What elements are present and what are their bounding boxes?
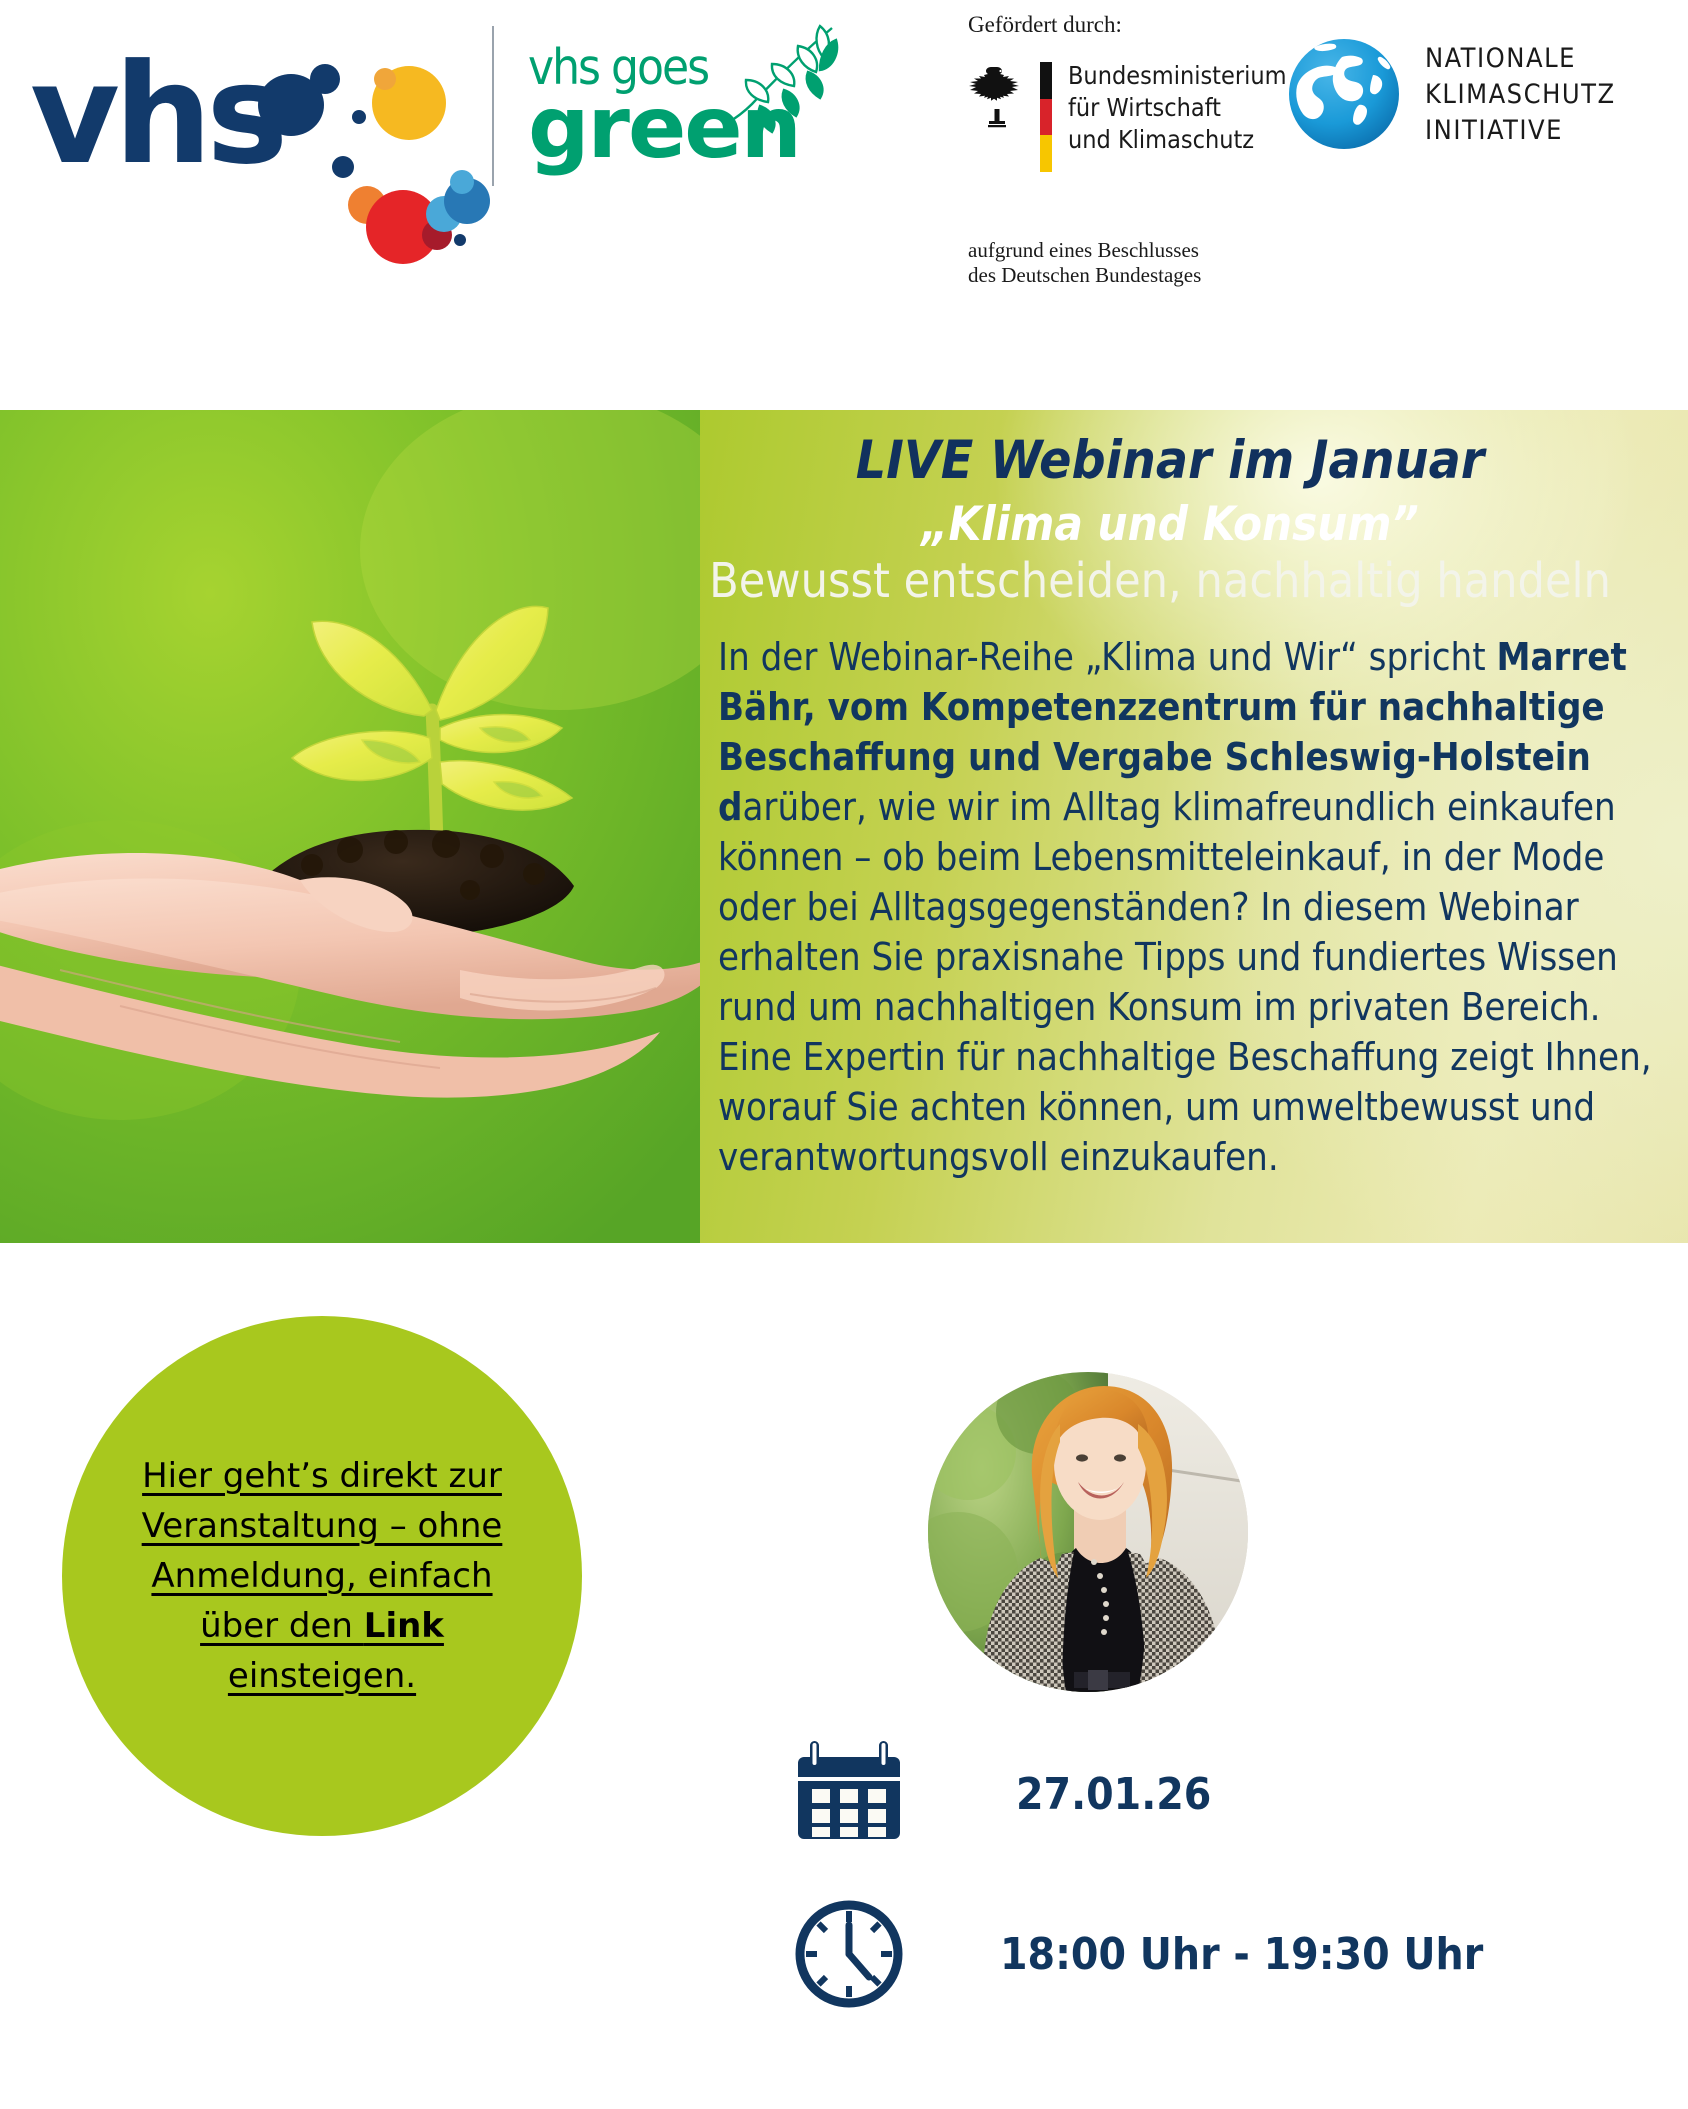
nki-line3: INITIATIVE — [1425, 113, 1616, 149]
globe-icon — [1285, 35, 1403, 153]
event-date-label: 27.01.26 — [1016, 1769, 1211, 1820]
cta-link-text[interactable]: Hier geht’s direkt zur Veranstaltung – o… — [122, 1451, 522, 1701]
event-time-row: 18:00 Uhr - 19:30 Uhr — [790, 1895, 1483, 2013]
speaker-photo — [928, 1372, 1248, 1692]
federal-eagle-icon — [968, 64, 1026, 130]
bmwk-line3: und Klimaschutz — [1068, 124, 1287, 156]
hero-body-text: In der Webinar-Reihe „Klima und Wir“ spr… — [718, 632, 1664, 1182]
hero-text-block: LIVE Webinar im Januar „Klima und Konsum… — [690, 410, 1688, 1243]
bundestag-resolution-note: aufgrund eines Beschlusses des Deutschen… — [968, 238, 1201, 288]
bmwk-line1: Bundesministerium — [1068, 60, 1287, 92]
cta-link-circle[interactable]: Hier geht’s direkt zur Veranstaltung – o… — [62, 1316, 582, 1836]
nki-line2: KLIMASCHUTZ — [1425, 77, 1616, 113]
hands-holding-seedling-image — [0, 410, 700, 1243]
event-date-row: 27.01.26 — [790, 1735, 1211, 1853]
bmwk-line2: für Wirtschaft — [1068, 92, 1287, 124]
hero-banner: LIVE Webinar im Januar „Klima und Konsum… — [0, 410, 1688, 1243]
calendar-icon — [790, 1735, 908, 1853]
resolution-line2: des Deutschen Bundestages — [968, 263, 1201, 288]
nki-line1: NATIONALE — [1425, 41, 1616, 77]
hero-subtitle: „Klima und Konsum” — [690, 496, 1650, 554]
hero-tagline: Bewusst entscheiden, nachhaltig handeln — [630, 552, 1688, 610]
event-time-label: 18:00 Uhr - 19:30 Uhr — [1000, 1929, 1483, 1980]
resolution-line1: aufgrund eines Beschlusses — [968, 238, 1201, 263]
bmwk-name: Bundesministerium für Wirtschaft und Kli… — [1068, 60, 1287, 156]
funding-label: Gefördert durch: — [968, 12, 1122, 38]
nki-logo: NATIONALE KLIMASCHUTZ INITIATIVE — [1285, 35, 1645, 160]
german-flag-bar — [1040, 62, 1052, 172]
page-header: vhs vhs go — [0, 0, 1688, 410]
hero-headline: LIVE Webinar im Januar — [690, 430, 1650, 492]
nki-name: NATIONALE KLIMASCHUTZ INITIATIVE — [1425, 41, 1616, 149]
clock-icon — [790, 1895, 908, 2013]
bmwk-logo: Bundesministerium für Wirtschaft und Kli… — [968, 62, 1238, 172]
speaker-portrait — [928, 1372, 1248, 1692]
